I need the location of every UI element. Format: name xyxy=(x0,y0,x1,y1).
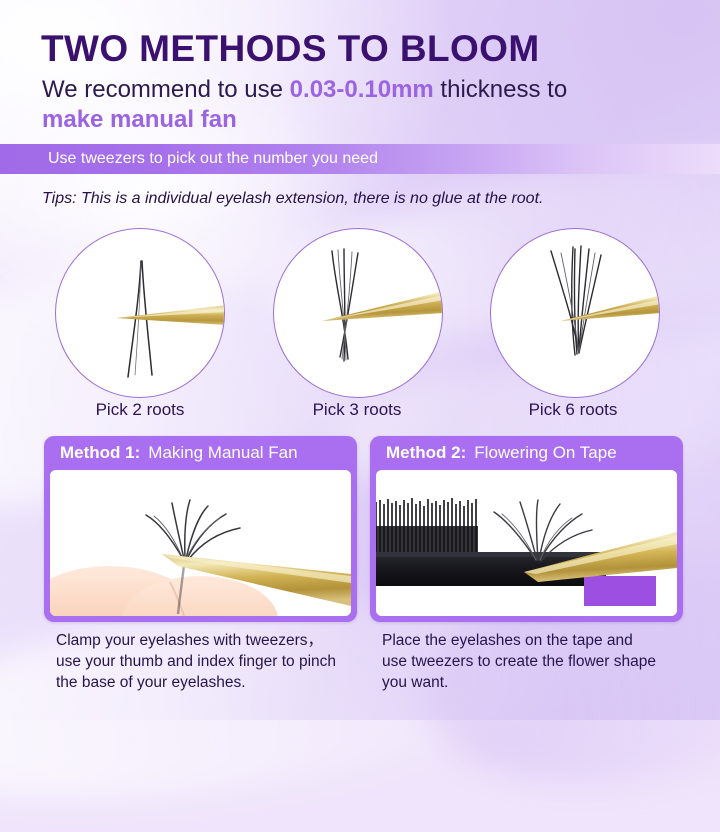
root-sample-2-circle xyxy=(273,228,443,398)
method-1-caption-line-3: the base of your eyelashes. xyxy=(56,672,372,693)
pick-3-roots-illustration xyxy=(274,229,443,398)
method-2-caption-line-3: you want. xyxy=(382,672,698,693)
root-sample-1-circle xyxy=(55,228,225,398)
method-1-caption-line-1: Clamp your eyelashes with tweezers， xyxy=(56,630,372,651)
method-2-caption-line-2: use tweezers to create the flower shape xyxy=(382,651,698,672)
method-1-badge: Method 1: xyxy=(60,443,140,463)
page-title: TWO METHODS TO BLOOM xyxy=(41,28,540,70)
method-2-panel: Method 2: Flowering On Tape xyxy=(370,436,683,622)
method-2-image xyxy=(376,470,677,616)
method-1-panel: Method 1: Making Manual Fan xyxy=(44,436,357,622)
root-sample-3-circle xyxy=(490,228,660,398)
pick-6-roots-illustration xyxy=(491,229,660,398)
method-1-image xyxy=(50,470,351,616)
method-2-name: Flowering On Tape xyxy=(474,443,616,463)
flowering-on-tape-photo xyxy=(376,470,677,616)
manual-fan-photo xyxy=(50,470,351,616)
recommendation-line-2: make manual fan xyxy=(42,106,237,134)
method-2-header: Method 2: Flowering On Tape xyxy=(370,436,683,470)
method-1-caption-line-2: use your thumb and index finger to pinch xyxy=(56,651,372,672)
recommendation-line: We recommend to use 0.03-0.10mm thicknes… xyxy=(42,76,567,104)
root-sample-1-label: Pick 2 roots xyxy=(45,400,235,420)
root-sample-3 xyxy=(490,228,660,398)
pick-2-roots-illustration xyxy=(56,229,225,398)
instruction-banner-text: Use tweezers to pick out the number you … xyxy=(48,150,378,168)
root-sample-3-label: Pick 6 roots xyxy=(478,400,668,420)
tips-text: Tips: This is a individual eyelash exten… xyxy=(42,190,543,208)
root-sample-2 xyxy=(273,228,443,398)
root-sample-2-label: Pick 3 roots xyxy=(262,400,452,420)
recommendation-prefix: We recommend to use xyxy=(42,76,290,103)
thickness-value: 0.03-0.10mm xyxy=(290,76,434,103)
method-2-caption-line-1: Place the eyelashes on the tape and xyxy=(382,630,698,651)
method-1-caption: Clamp your eyelashes with tweezers， use … xyxy=(56,630,372,693)
method-2-caption: Place the eyelashes on the tape and use … xyxy=(382,630,698,693)
method-2-badge: Method 2: xyxy=(386,443,466,463)
make-manual-fan-text: make manual fan xyxy=(42,106,237,133)
root-sample-1 xyxy=(55,228,225,398)
method-1-header: Method 1: Making Manual Fan xyxy=(44,436,357,470)
method-1-name: Making Manual Fan xyxy=(148,443,297,463)
recommendation-suffix: thickness to xyxy=(434,76,567,103)
